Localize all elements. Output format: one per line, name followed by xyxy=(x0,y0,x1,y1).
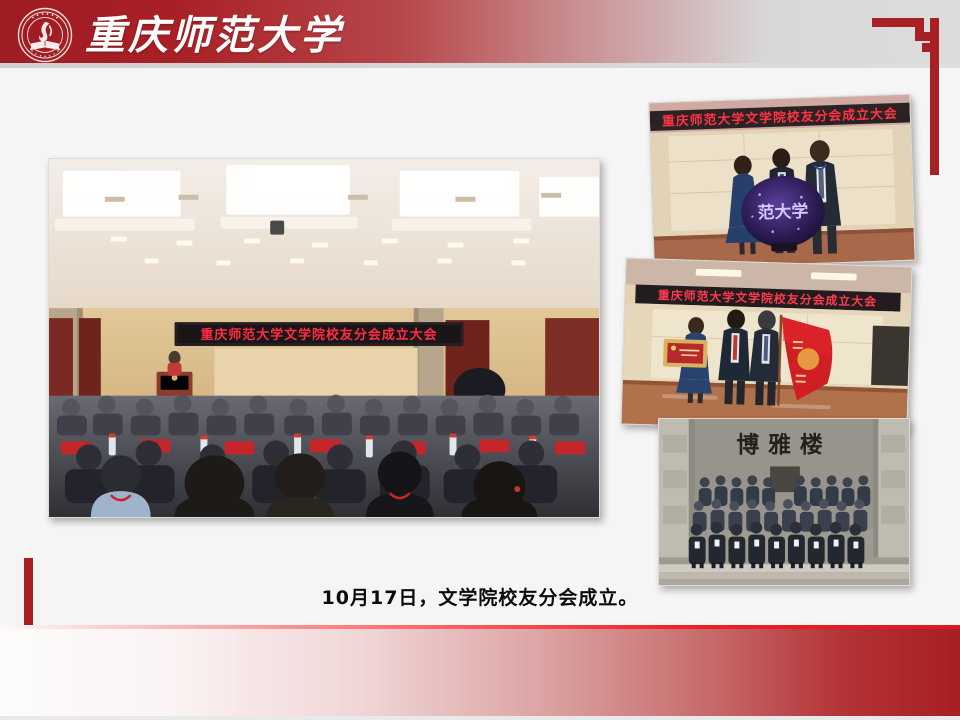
photo-conference-hall-audience[interactable]: 重庆师范大学文学院校友分会成立大会 xyxy=(48,158,600,518)
svg-text:重庆师范大学文学院校友分会成立大会: 重庆师范大学文学院校友分会成立大会 xyxy=(200,327,437,343)
photo-group-portrait-boya-building[interactable]: 博雅楼 xyxy=(658,418,910,586)
footer-bottom-edge xyxy=(0,716,960,720)
photo-plaque-and-flag-presentation[interactable]: 重庆师范大学文学院校友分会成立大会 xyxy=(620,258,912,434)
slide-caption: 10月17日，文学院校友分会成立。 xyxy=(0,583,960,610)
photo-launch-ball-ceremony[interactable]: 重庆师范大学文学院校友分会成立大会 xyxy=(648,94,915,270)
svg-text:范大学: 范大学 xyxy=(757,201,808,223)
footer-band xyxy=(0,625,960,720)
university-emblem-icon xyxy=(17,7,73,63)
presentation-slide: 重庆师范大学 xyxy=(0,0,960,720)
svg-text:博雅楼: 博雅楼 xyxy=(736,432,831,459)
header-underline xyxy=(0,63,960,68)
footer-accent-line xyxy=(0,625,960,629)
page-title: 重庆师范大学 xyxy=(85,3,343,61)
